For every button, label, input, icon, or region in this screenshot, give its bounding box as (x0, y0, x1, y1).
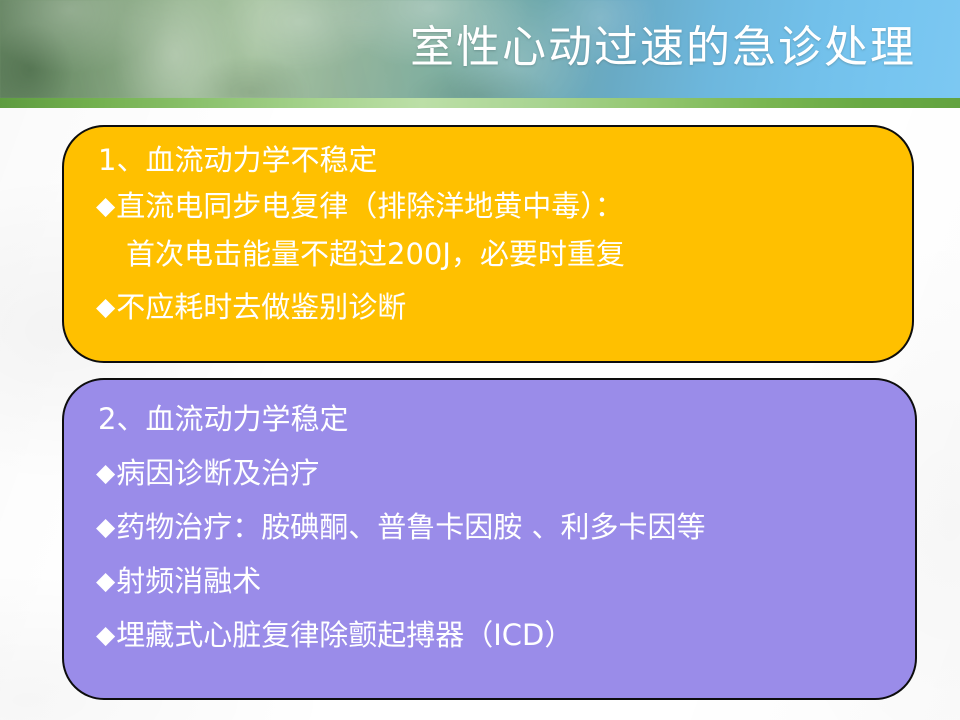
diamond-bullet-icon: ◆ (96, 189, 115, 223)
list-item: ◆不应耗时去做鉴别诊断 (96, 290, 406, 324)
line-text: 埋藏式心脏复律除颤起搏器（ICD） (116, 618, 573, 652)
stable-box-lines: 2、血流动力学稳定 ◆病因诊断及治疗 ◆药物治疗：胺碘酮、普鲁卡因胺 、利多卡因… (64, 380, 915, 698)
hemodynamically-stable-box: 2、血流动力学稳定 ◆病因诊断及治疗 ◆药物治疗：胺碘酮、普鲁卡因胺 、利多卡因… (62, 378, 917, 700)
diamond-bullet-icon: ◆ (96, 618, 115, 652)
list-item: ◆埋藏式心脏复律除颤起搏器（ICD） (96, 618, 573, 652)
page-title: 室性心动过速的急诊处理 (410, 14, 916, 82)
line-text: 首次电击能量不超过200J，必要时重复 (126, 237, 625, 271)
line-text: 直流电同步电复律（排除洋地黄中毒）： (116, 189, 624, 223)
list-item: 2、血流动力学稳定 (98, 402, 348, 436)
header-divider-rule (0, 98, 960, 108)
line-text: 病因诊断及治疗 (116, 456, 319, 490)
slide-root: 室性心动过速的急诊处理 1、血流动力学不稳定 ◆直流电同步电复律（排除洋地黄中毒… (0, 0, 960, 720)
list-item: ◆药物治疗：胺碘酮、普鲁卡因胺 、利多卡因等 (96, 510, 705, 544)
list-item: 首次电击能量不超过200J，必要时重复 (126, 237, 625, 271)
line-text: 2、血流动力学稳定 (98, 402, 348, 436)
diamond-bullet-icon: ◆ (96, 290, 115, 324)
line-text: 射频消融术 (116, 564, 261, 598)
unstable-box-lines: 1、血流动力学不稳定 ◆直流电同步电复律（排除洋地黄中毒）： 首次电击能量不超过… (64, 127, 912, 361)
line-text: 药物治疗：胺碘酮、普鲁卡因胺 、利多卡因等 (116, 510, 705, 544)
diamond-bullet-icon: ◆ (96, 456, 115, 490)
list-item: ◆射频消融术 (96, 564, 261, 598)
line-text: 1、血流动力学不稳定 (98, 143, 377, 177)
slide-header-banner: 室性心动过速的急诊处理 (0, 0, 960, 98)
diamond-bullet-icon: ◆ (96, 510, 115, 544)
hemodynamically-unstable-box: 1、血流动力学不稳定 ◆直流电同步电复律（排除洋地黄中毒）： 首次电击能量不超过… (62, 125, 914, 363)
line-text: 不应耗时去做鉴别诊断 (116, 290, 406, 324)
list-item: ◆病因诊断及治疗 (96, 456, 319, 490)
list-item: 1、血流动力学不稳定 (98, 143, 377, 177)
list-item: ◆直流电同步电复律（排除洋地黄中毒）： (96, 189, 624, 223)
diamond-bullet-icon: ◆ (96, 564, 115, 598)
